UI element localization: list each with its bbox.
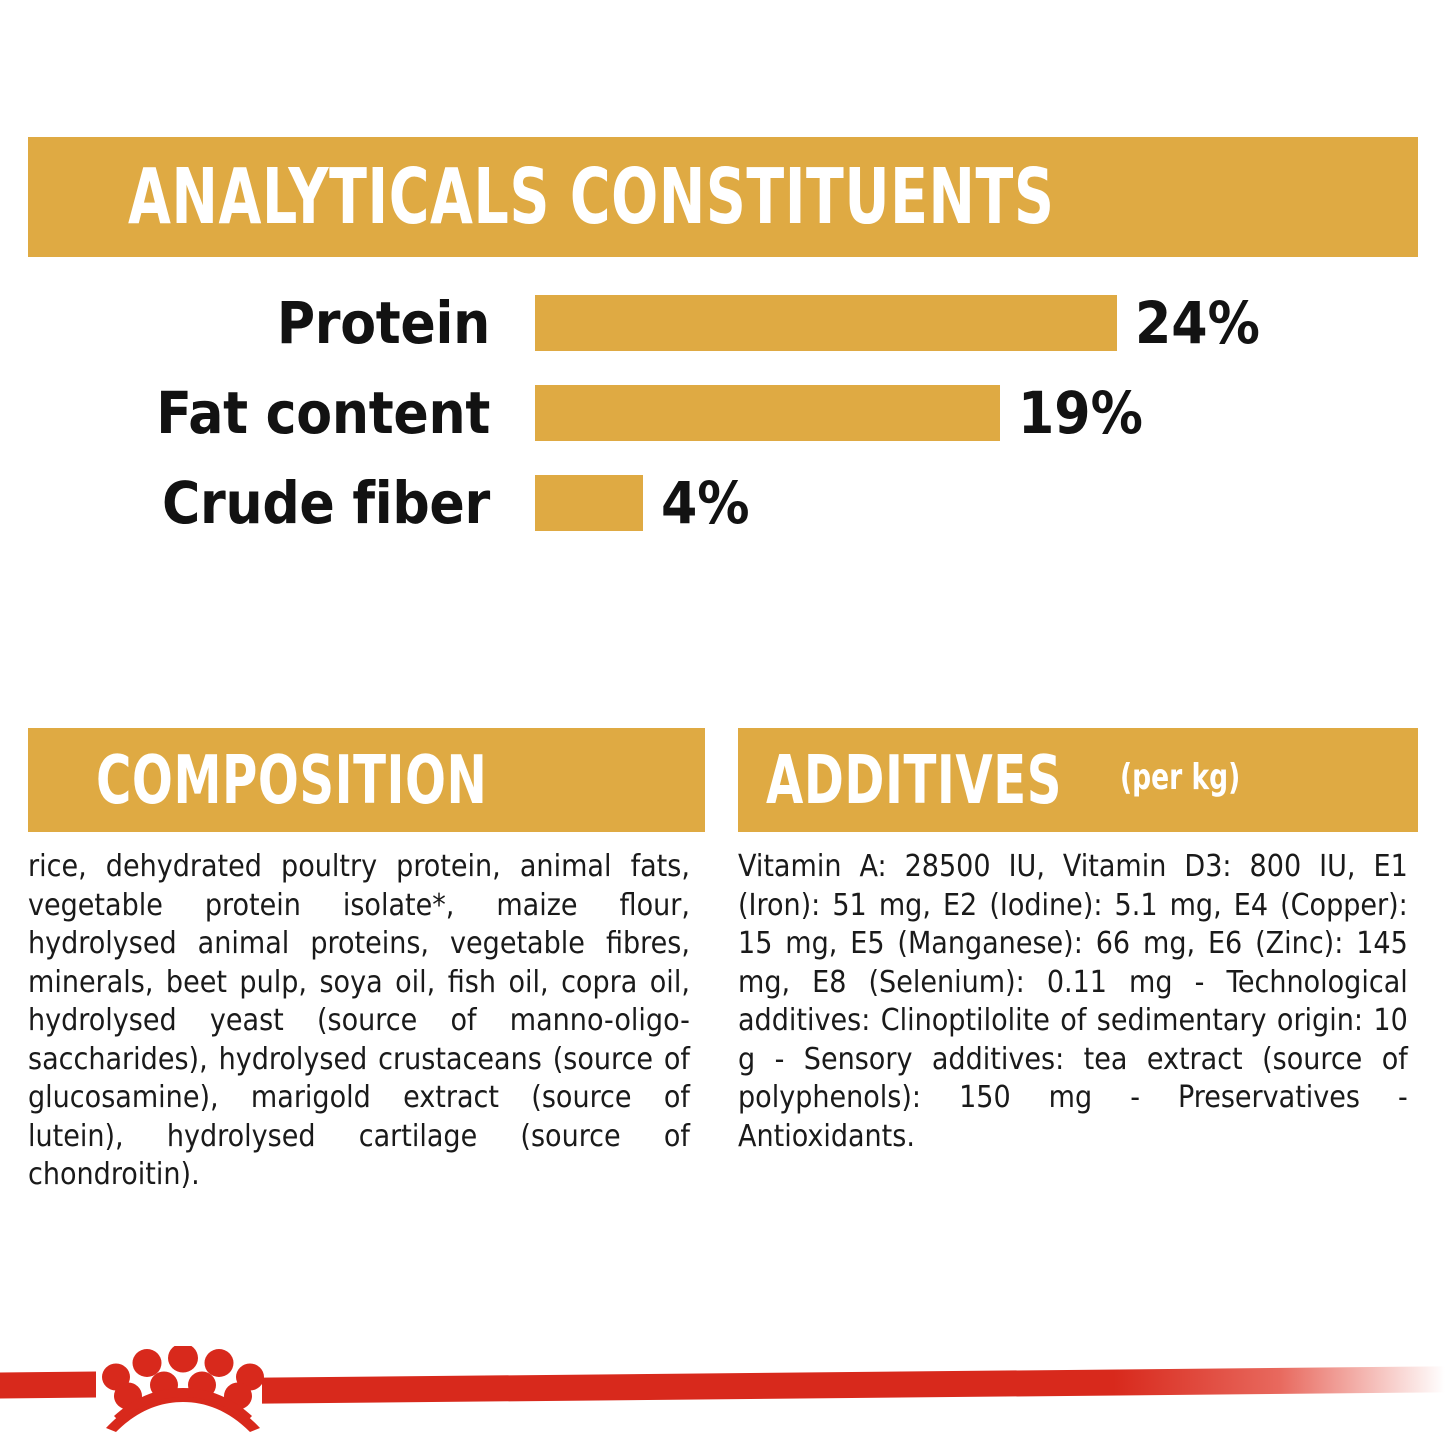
bar-value-crude-fiber: 4%	[661, 474, 750, 532]
analyticals-constituents-header: ANALYTICALS CONSTITUENTS	[28, 137, 1418, 257]
composition-header: COMPOSITION	[28, 728, 705, 832]
footer-rule-right	[262, 1366, 1445, 1403]
bar-track-fat-content: 19%	[535, 382, 1143, 444]
bar-fill-fat-content	[535, 385, 1000, 441]
analyticals-constituents-title: ANALYTICALS CONSTITUENTS	[128, 159, 1055, 236]
bar-value-protein: 24%	[1135, 294, 1260, 352]
analytical-constituents-chart: Protein 24% Fat content 19% Crude fiber …	[0, 292, 1445, 552]
footer-brand-bar	[0, 1330, 1445, 1445]
additives-title: ADDITIVES	[766, 747, 1062, 814]
nutrition-panel: ANALYTICALS CONSTITUENTS Protein 24% Fat…	[0, 0, 1445, 1445]
chart-row-protein: Protein 24%	[0, 292, 1445, 354]
bar-track-protein: 24%	[535, 292, 1260, 354]
additives-text: Vitamin A: 28500 IU, Vitamin D3: 800 IU,…	[738, 848, 1408, 1156]
footer-rule-left	[0, 1372, 96, 1399]
bar-label-protein: Protein	[0, 294, 490, 352]
bar-label-crude-fiber: Crude fiber	[0, 474, 490, 532]
composition-title: COMPOSITION	[96, 747, 487, 814]
royal-canin-crown-icon	[100, 1346, 266, 1432]
additives-header: ADDITIVES (per kg)	[738, 728, 1418, 832]
bar-label-fat-content: Fat content	[0, 384, 490, 442]
chart-row-crude-fiber: Crude fiber 4%	[0, 472, 1445, 534]
additives-per-kg-label: (per kg)	[1120, 760, 1240, 800]
bar-fill-protein	[535, 295, 1117, 351]
bar-track-crude-fiber: 4%	[535, 472, 750, 534]
bar-fill-crude-fiber	[535, 475, 643, 531]
bar-value-fat-content: 19%	[1018, 384, 1143, 442]
chart-row-fat-content: Fat content 19%	[0, 382, 1445, 444]
composition-text: rice, dehydrated poultry protein, animal…	[28, 848, 690, 1195]
